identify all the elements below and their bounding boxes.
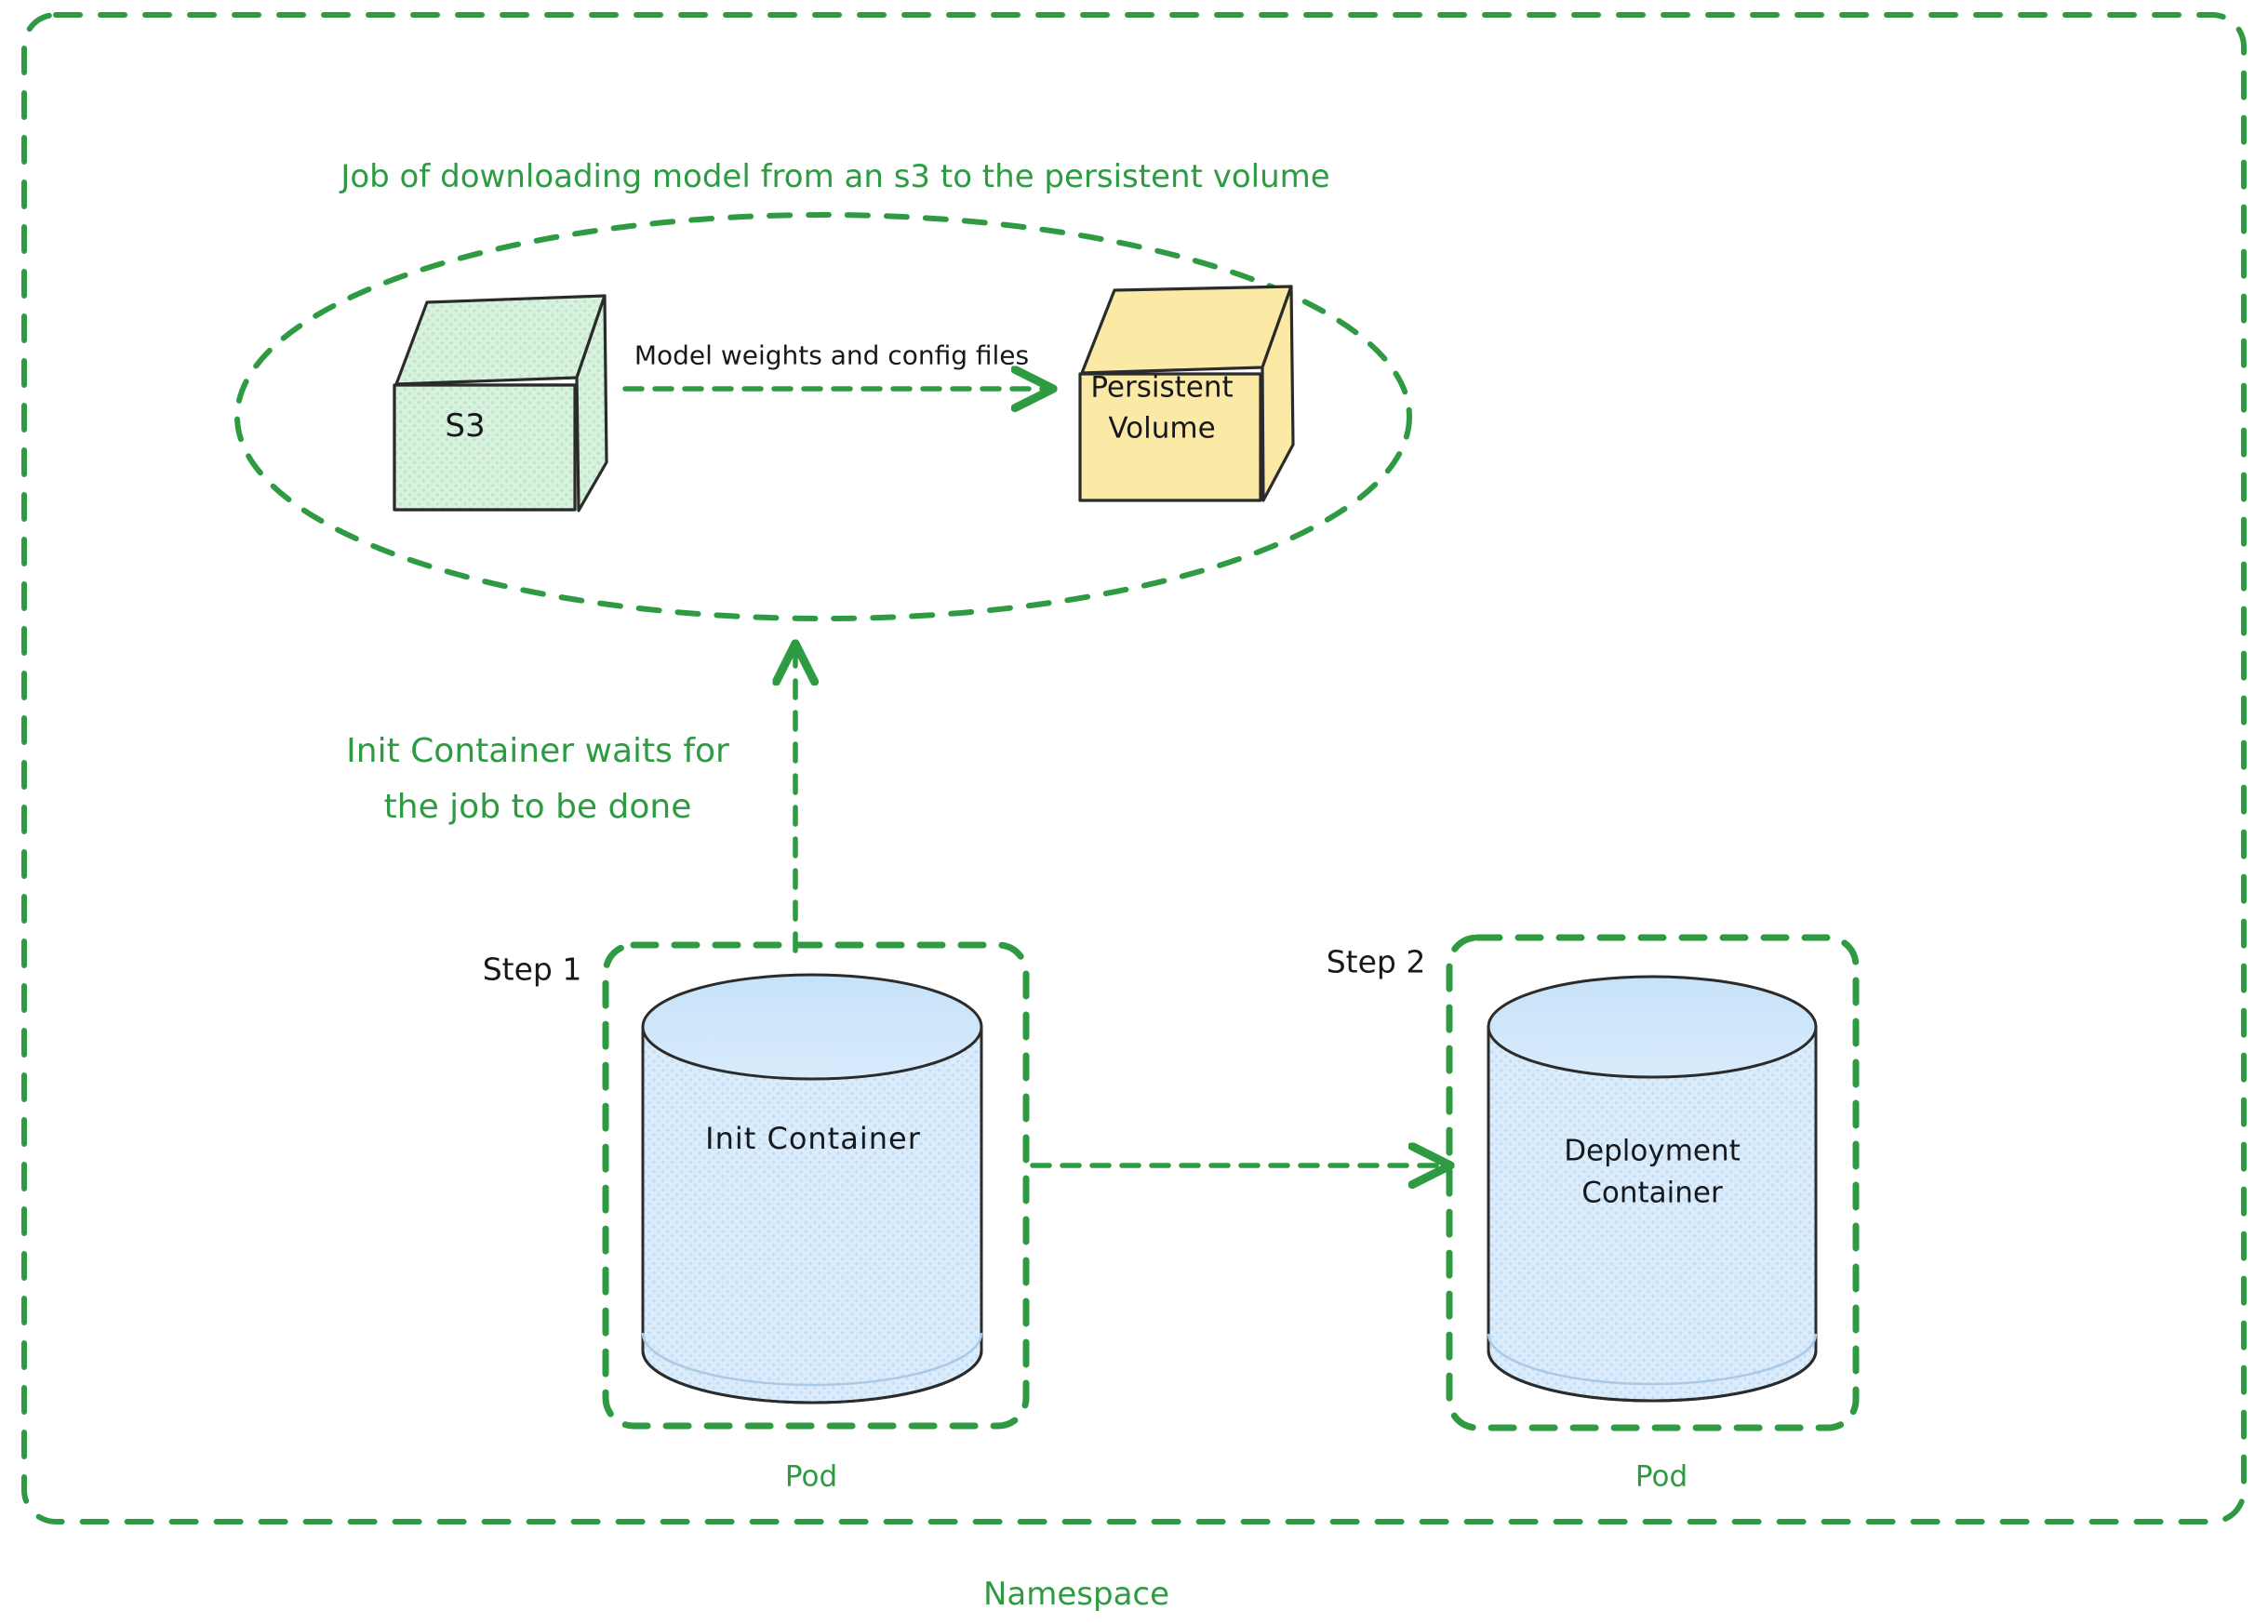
edge-label-init-waits-line2: the job to be done bbox=[384, 788, 692, 827]
edge-label-init-waits-line1: Init Container waits for bbox=[346, 732, 729, 771]
pod-1-label: Pod bbox=[785, 1460, 837, 1495]
persistent-volume-label-line2: Volume bbox=[1108, 412, 1215, 446]
persistent-volume-label-line1: Persistent bbox=[1090, 371, 1233, 406]
s3-cube-label: S3 bbox=[445, 407, 485, 445]
step-1-label: Step 1 bbox=[483, 952, 582, 989]
step-2-label: Step 2 bbox=[1327, 945, 1426, 981]
init-container-label: Init Container bbox=[705, 1122, 921, 1157]
diagram-canvas: Job of downloading model from an s3 to t… bbox=[0, 0, 2268, 1624]
deployment-container-label-line1: Deployment bbox=[1564, 1135, 1741, 1169]
edge-label-model-weights: Model weights and config files bbox=[634, 339, 1029, 370]
pod-2-label: Pod bbox=[1635, 1460, 1688, 1495]
diagram-vector-layer bbox=[0, 0, 2268, 1624]
init-container-cylinder-shape bbox=[643, 975, 981, 1403]
deployment-container-label-line2: Container bbox=[1581, 1177, 1723, 1211]
s3-cube-shape bbox=[394, 296, 607, 511]
namespace-label: Namespace bbox=[983, 1576, 1169, 1613]
job-group-title: Job of downloading model from an s3 to t… bbox=[340, 158, 1329, 195]
